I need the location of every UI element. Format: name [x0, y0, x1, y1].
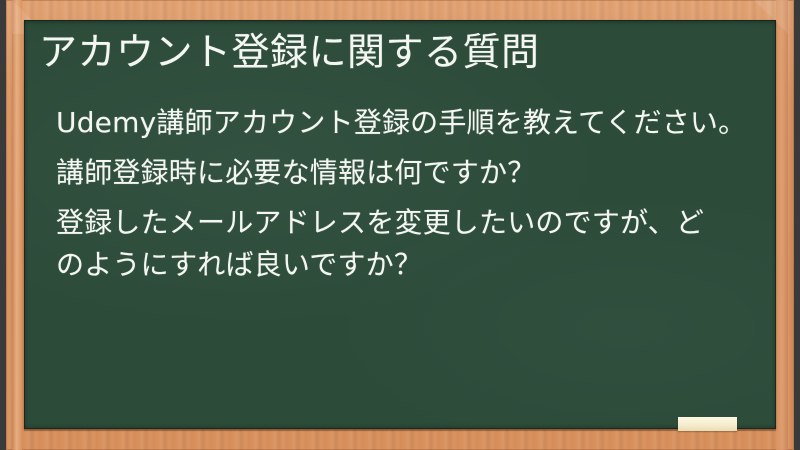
list-item: 講師登録時に必要な情報は何ですか？ [56, 152, 762, 194]
list-item: Udemy講師アカウント登録の手順を教えてください。 [56, 102, 756, 144]
list-item: 登録したメールアドレスを変更したいのですが、どのようにすれば良いですか？ [56, 202, 728, 286]
chalkboard: アカウント登録に関する質問 Udemy講師アカウント登録の手順を教えてください。… [24, 20, 776, 429]
chalk-stick [678, 417, 737, 431]
chalkboard-ledge [24, 429, 776, 431]
frame-right-highlight [776, 0, 788, 450]
slide-title: アカウント登録に関する質問 [39, 29, 540, 75]
question-list: Udemy講師アカウント登録の手順を教えてください。 講師登録時に必要な情報は何… [56, 102, 762, 294]
frame-left-highlight [12, 0, 22, 450]
slide-canvas: アカウント登録に関する質問 Udemy講師アカウント登録の手順を教えてください。… [0, 0, 800, 450]
